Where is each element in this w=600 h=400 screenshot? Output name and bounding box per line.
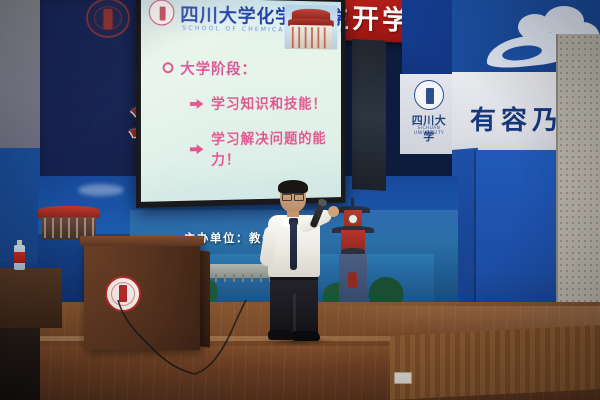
- floor-power-socket: [394, 372, 412, 384]
- slide-bullet-text: 大学阶段：: [180, 57, 256, 78]
- speaker-presenter: [252, 182, 338, 342]
- projection-screen: 四川大学化学工程学院 SCHOOL OF CHEMICAL ENGINEERIN…: [136, 0, 345, 208]
- circle-marker-icon: [163, 62, 174, 73]
- arrow-marker-icon: [190, 143, 204, 155]
- slide-bullet-text: 学习知识和技能！: [211, 93, 326, 114]
- auditorium-photo-scene: 名 新生开学典礼 四川大学 SICHUAN UNIVERSITY 有容乃大 主办…: [0, 0, 600, 400]
- slide-body: 大学阶段： 学习知识和技能！ 学习解决问题的能力！: [141, 43, 341, 202]
- perforated-acoustic-wall-panel: [558, 34, 600, 334]
- slide-bullet-0: 大学阶段：: [163, 57, 341, 79]
- water-bottle: [14, 238, 25, 270]
- arrow-marker-icon: [190, 98, 204, 110]
- stage-front-facade: [390, 325, 600, 400]
- panel-seam: [474, 150, 476, 315]
- corner-blue-panel-right: [476, 150, 562, 322]
- sichuan-university-logo: 四川大学 SICHUAN UNIVERSITY: [408, 80, 450, 142]
- slide-bullet-2: 学习解决问题的能力！: [190, 128, 341, 170]
- slide-bullet-1: 学习知识和技能！: [190, 93, 341, 114]
- projected-slide: 四川大学化学工程学院 SCHOOL OF CHEMICAL ENGINEERIN…: [141, 0, 341, 202]
- podium-top-surface: [80, 236, 204, 246]
- left-dark-floor: [0, 322, 40, 400]
- speaker-shoe-left: [268, 330, 294, 340]
- university-name-en: SICHUAN UNIVERSITY: [408, 126, 450, 136]
- eyeglasses-icon: [282, 193, 304, 198]
- screen-side-shadow: [352, 39, 386, 191]
- sichuan-university-gate-seal-icon: [414, 80, 444, 110]
- side-table: [0, 268, 62, 328]
- slide-header: 四川大学化学工程学院 SCHOOL OF CHEMICAL ENGINEERIN…: [141, 0, 341, 44]
- campus-building-photo: [284, 4, 337, 49]
- speaker-shoe-right: [292, 331, 320, 341]
- speaker-necktie: [290, 222, 297, 270]
- slide-bullet-text: 学习解决问题的能力！: [211, 128, 341, 170]
- sichuan-university-emblem-icon: [86, 0, 130, 38]
- mid-blue-panel: [402, 0, 456, 76]
- sichuan-university-seal-icon: [149, 0, 174, 26]
